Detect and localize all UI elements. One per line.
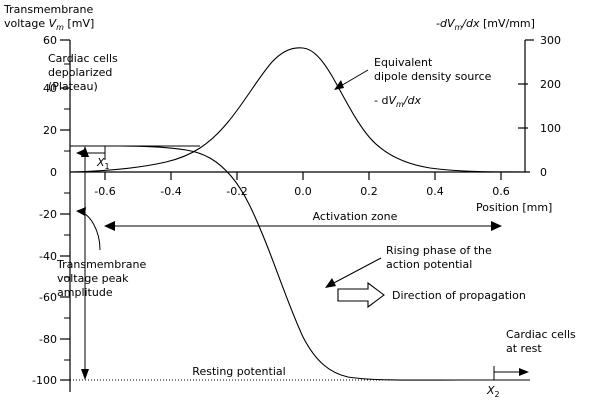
dipole-annotation-leader — [339, 70, 368, 87]
x-axis-title: Position [mm] — [476, 201, 552, 214]
x1-label: X1 — [96, 156, 110, 171]
right-tick-label-0: 0 — [540, 166, 547, 179]
right-tick-label-300: 300 — [540, 34, 561, 47]
x-tick-label-0.4: 0.4 — [426, 185, 444, 198]
rising-phase-line1: Rising phase of the — [386, 244, 492, 257]
rising-phase-leader — [330, 258, 381, 285]
direction-of-propagation-label: Direction of propagation — [392, 289, 526, 302]
x-tick-label-0.2: 0.2 — [360, 185, 378, 198]
plateau-annotation-line2: depolarized — [48, 66, 112, 79]
rising-phase-line2: action potential — [386, 258, 472, 271]
peak-amplitude-leader — [81, 212, 100, 250]
activation-zone-arrow-head-left — [104, 221, 115, 231]
left-tick-label-m80: -80 — [39, 333, 57, 346]
figure-root: Transmembrane voltage Vm [mV] -dVm/dx [m… — [0, 0, 600, 406]
left-tick-label-0: 0 — [50, 166, 57, 179]
x2-label: X2 — [486, 384, 500, 399]
peak-amplitude-arrow-head — [76, 207, 86, 216]
left-tick-label-m20: -20 — [39, 208, 57, 221]
right-axis-title: -dVm/dx [mV/mm] — [436, 17, 535, 32]
dipole-annotation-line2: dipole density source — [374, 70, 492, 83]
activation-zone-arrow-head-right — [491, 221, 502, 231]
x-tick-label-m0.6: -0.6 — [94, 185, 115, 198]
dipole-density-curve — [70, 48, 530, 172]
rising-phase-arrow-head — [325, 278, 336, 288]
x-tick-label-0.0: 0.0 — [294, 185, 312, 198]
left-tick-label-m100: -100 — [32, 374, 57, 387]
peak-amplitude-arrow-head-bottom — [81, 369, 89, 380]
left-axis-title-line2: voltage Vm [mV] — [4, 17, 94, 32]
x-tick-label-0.6: 0.6 — [492, 185, 510, 198]
direction-of-propagation-arrow — [338, 283, 384, 307]
left-axis-title-line1: Transmembrane — [3, 3, 93, 16]
plateau-annotation-line3: (Plateau) — [48, 80, 98, 93]
right-tick-label-100: 100 — [540, 122, 561, 135]
peak-amplitude-line2: voltage peak — [57, 272, 129, 285]
plateau-annotation-line1: Cardiac cells — [48, 52, 118, 65]
cells-at-rest-line2: at rest — [506, 342, 542, 355]
peak-amplitude-line3: amplitude — [57, 286, 113, 299]
left-tick-label-60: 60 — [43, 34, 57, 47]
activation-zone-label: Activation zone — [313, 210, 398, 223]
at-rest-arrow-head — [519, 368, 529, 376]
resting-potential-label: Resting potential — [192, 365, 285, 378]
left-tick-label-20: 20 — [43, 124, 57, 137]
right-tick-label-200: 200 — [540, 78, 561, 91]
dipole-formula: - dVm/dx — [374, 94, 421, 109]
left-tick-label-m40: -40 — [39, 250, 57, 263]
dipole-annotation-line1: Equivalent — [374, 56, 433, 69]
left-tick-label-m60: -60 — [39, 291, 57, 304]
cells-at-rest-line1: Cardiac cells — [506, 328, 576, 341]
x-tick-label-m0.4: -0.4 — [160, 185, 181, 198]
peak-amplitude-line1: Transmembrane — [56, 258, 146, 271]
